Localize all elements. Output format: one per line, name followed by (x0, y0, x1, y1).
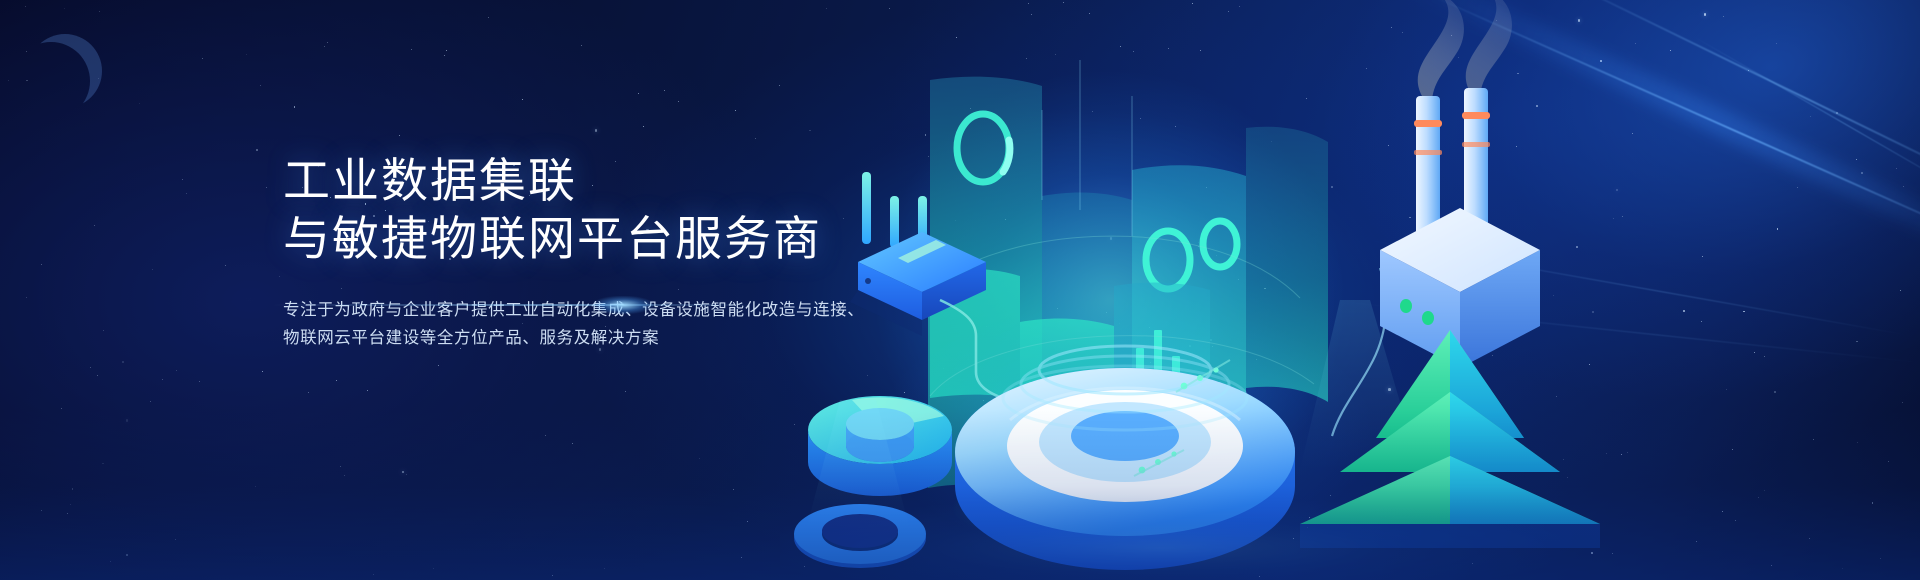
smokestack-band (1462, 112, 1490, 119)
factory-smokestacks (1380, 0, 1540, 368)
hero-banner: 工业数据集联 与敏捷物联网平台服务商 专注于为政府与企业客户提供工业自动化集成、… (0, 0, 1920, 580)
smokestack-band (1414, 120, 1442, 127)
smoke-plume-right (1466, 0, 1512, 96)
smoke-plume-left (1418, 0, 1464, 100)
moon-crescent (28, 34, 102, 108)
headline-divider (273, 304, 753, 306)
dome-inner-core (1071, 411, 1179, 461)
iot-illustration (780, 0, 1920, 580)
